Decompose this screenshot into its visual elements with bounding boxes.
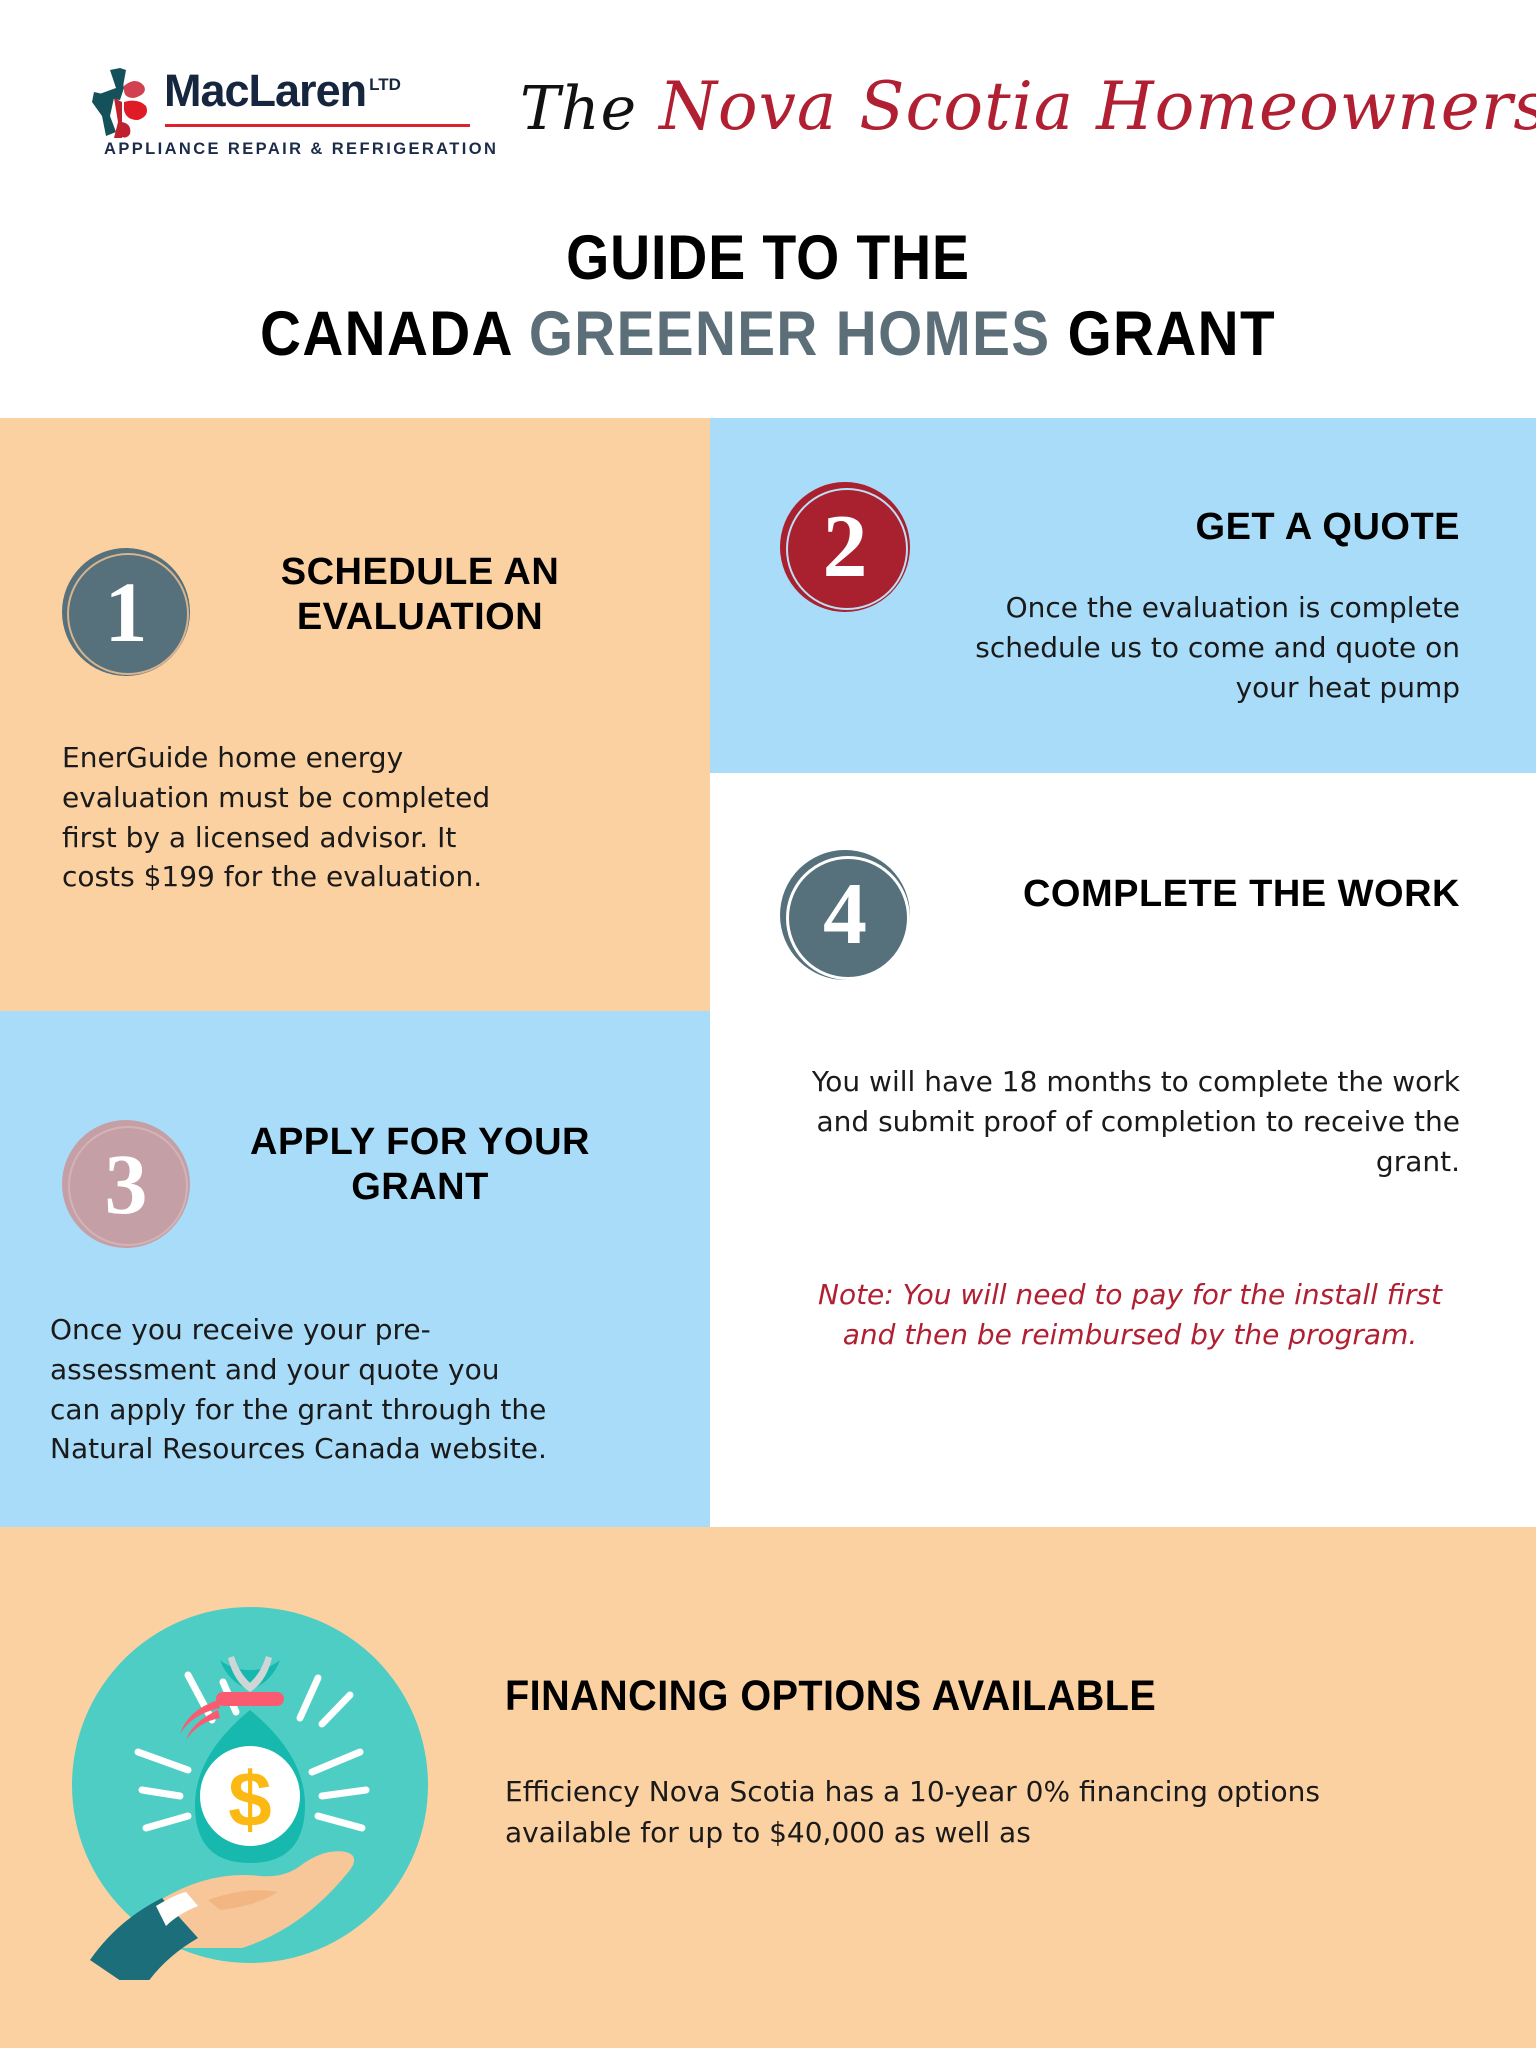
step-1-body: EnerGuide home energy evaluation must be… (62, 738, 532, 897)
title-greener-homes: GREENER HOMES (529, 299, 1051, 369)
step-4-body: You will have 18 months to complete the … (780, 1062, 1460, 1181)
brand-tagline: APPLIANCE REPAIR & REFRIGERATION (104, 140, 498, 159)
financing-heading: FINANCING OPTIONS AVAILABLE (505, 1672, 1333, 1721)
financing-body: Efficiency Nova Scotia has a 10-year 0% … (505, 1772, 1455, 1853)
step-4-note: Note: You will need to pay for the insta… (800, 1275, 1460, 1355)
header: MacLarenLTD APPLIANCE REPAIR & REFRIGERA… (0, 0, 1536, 418)
step-1-heading: SCHEDULE AN EVALUATION (210, 550, 630, 640)
step-2-heading: GET A QUOTE (930, 505, 1460, 550)
script-headline: The Nova Scotia Homeowners (520, 52, 1510, 162)
step-3-heading: APPLY FOR YOUR GRANT (210, 1120, 630, 1210)
step-3-body: Once you receive your pre-assessment and… (50, 1310, 550, 1469)
title-grant: GRANT (1068, 299, 1276, 369)
step-2-body: Once the evaluation is complete schedule… (930, 588, 1460, 707)
brand-name: MacLarenLTD (164, 68, 401, 113)
svg-text:$: $ (228, 1755, 271, 1843)
panel-step-1 (0, 418, 710, 1011)
logo-rule (165, 124, 470, 127)
maclaren-pinwheel-logo-icon (90, 66, 156, 140)
brand-logo: MacLarenLTD APPLIANCE REPAIR & REFRIGERA… (90, 62, 490, 172)
infographic-page: MacLarenLTD APPLIANCE REPAIR & REFRIGERA… (0, 0, 1536, 2048)
brand-suffix: LTD (369, 75, 401, 94)
title-line-1: GUIDE TO THE (92, 222, 1444, 294)
title-line-2: CANADA GREENER HOMES GRANT (77, 298, 1459, 370)
money-bag-in-hand-icon: $ (60, 1600, 440, 1980)
step-2-badge-ring (786, 488, 908, 610)
step-4-heading: COMPLETE THE WORK (930, 872, 1460, 917)
script-prefix: The (520, 74, 637, 144)
script-highlight: Nova Scotia Homeowners (659, 68, 1536, 145)
title-canada: CANADA (260, 299, 512, 369)
step-1-badge-ring (67, 553, 189, 675)
step-4-badge-ring (786, 856, 910, 980)
step-3-badge-ring (68, 1126, 188, 1246)
